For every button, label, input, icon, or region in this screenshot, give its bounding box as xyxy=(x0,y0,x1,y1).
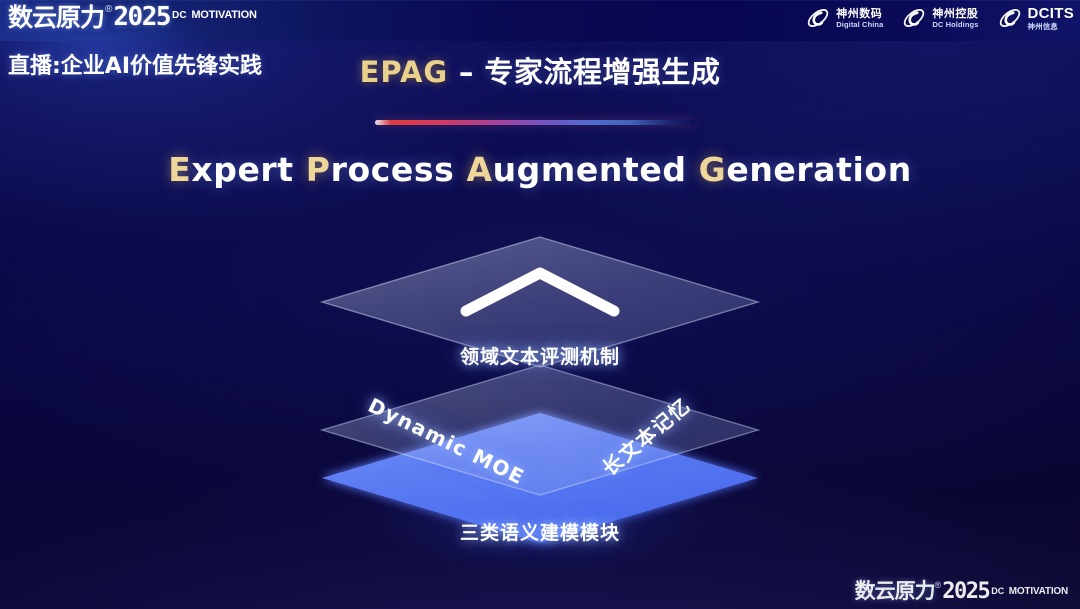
partner-label: 神州数码 Digital China xyxy=(836,8,883,29)
brand-motivation: MOTIVATION xyxy=(191,9,256,21)
page-title-dash: – xyxy=(448,55,484,89)
slide-canvas: 数云原力 ® 2025 DC MOTIVATION 直播:企业AI价值先锋实践 … xyxy=(0,0,1080,609)
layered-architecture-diagram: 领域文本评测机制 Dynamic MOE 长文本记忆 三类语义建模模块 xyxy=(290,225,790,575)
subtitle-rest-augmented: ugmented xyxy=(493,150,687,189)
partner-name-cn: 神州信息 xyxy=(1028,22,1075,31)
partner-logo-digital-china: 神州数码 Digital China xyxy=(805,5,883,31)
layer-top-label: 领域文本评测机制 xyxy=(460,342,620,369)
partner-name-en: DCITS xyxy=(1028,6,1075,22)
partner-logo-group: 神州数码 Digital China 神州控股 DC Holdings xyxy=(805,5,1074,31)
page-title-chinese: 专家流程增强生成 xyxy=(484,55,720,89)
subtitle-cap-e: E xyxy=(168,150,191,189)
swirl-icon xyxy=(997,5,1023,31)
brand-dc: DC xyxy=(172,10,187,21)
watermark-registered-mark: ® xyxy=(935,580,942,590)
gradient-divider xyxy=(375,120,695,125)
swirl-icon xyxy=(805,5,831,31)
layer-bottom-label: 三类语义建模模块 xyxy=(460,518,620,545)
brand-dc-motivation: DC MOTIVATION xyxy=(172,5,257,23)
subtitle-cap-p: P xyxy=(306,150,331,189)
partner-label: DCITS 神州信息 xyxy=(1028,6,1075,31)
subtitle-rest-process: rocess xyxy=(331,150,455,189)
partner-name-cn: 神州数码 xyxy=(836,8,883,20)
page-title-acronym: EPAG xyxy=(360,55,449,89)
subtitle-rest-generation: eneration xyxy=(726,150,911,189)
page-subtitle: Expert Process Augmented Generation xyxy=(0,148,1080,192)
chevron-up-icon xyxy=(456,263,624,321)
partner-logo-dc-holdings: 神州控股 DC Holdings xyxy=(901,5,978,31)
swirl-icon xyxy=(901,5,927,31)
partner-logo-dcits: DCITS 神州信息 xyxy=(997,5,1075,31)
brand-logo-cn: 数云原力 xyxy=(8,4,104,31)
partner-label: 神州控股 DC Holdings xyxy=(932,8,978,29)
watermark-dc-motivation: DC MOTIVATION xyxy=(991,581,1068,599)
watermark-motivation: MOTIVATION xyxy=(1009,586,1068,597)
footer-watermark-logo: 数云原力 ® 2025 DC MOTIVATION xyxy=(855,580,1068,603)
watermark-cn: 数云原力 xyxy=(855,580,935,603)
partner-name-cn: 神州控股 xyxy=(932,8,978,20)
partner-name-en: DC Holdings xyxy=(932,20,978,29)
brand-logo: 数云原力 ® 2025 DC MOTIVATION xyxy=(8,4,257,31)
subtitle-cap-g: G xyxy=(699,150,727,189)
subtitle-rest-expert: xpert xyxy=(191,150,293,189)
brand-registered-mark: ® xyxy=(105,4,112,15)
watermark-year: 2025 xyxy=(942,580,989,603)
brand-year: 2025 xyxy=(113,4,170,31)
page-title: EPAG – 专家流程增强生成 xyxy=(0,54,1080,90)
watermark-dc: DC xyxy=(991,586,1004,596)
partner-name-en: Digital China xyxy=(836,20,883,29)
subtitle-cap-a: A xyxy=(466,150,492,189)
